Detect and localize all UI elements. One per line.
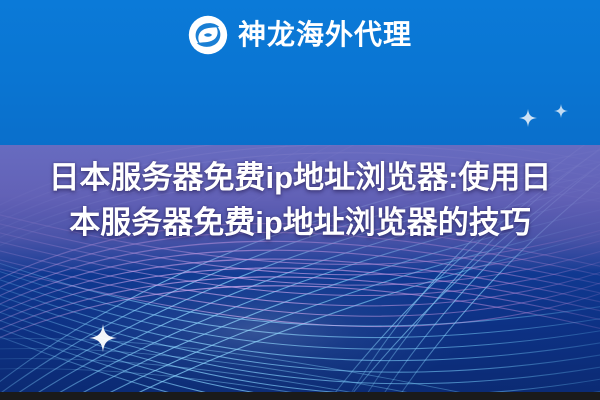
promo-banner: 神龙海外代理 日本服务器免费ip地址浏览器:使用日 本服务器免费ip地址浏览器的… [0,0,600,400]
bottom-edge-strip [0,392,600,400]
headline: 日本服务器免费ip地址浏览器:使用日 本服务器免费ip地址浏览器的技巧 [0,155,600,245]
swirl-spiral-icon [188,15,228,55]
headline-line-2: 本服务器免费ip地址浏览器的技巧 [0,200,600,245]
headline-line-1: 日本服务器免费ip地址浏览器:使用日 [0,155,600,200]
brand-lockup: 神龙海外代理 [0,10,600,60]
brand-name: 神龙海外代理 [238,21,412,49]
